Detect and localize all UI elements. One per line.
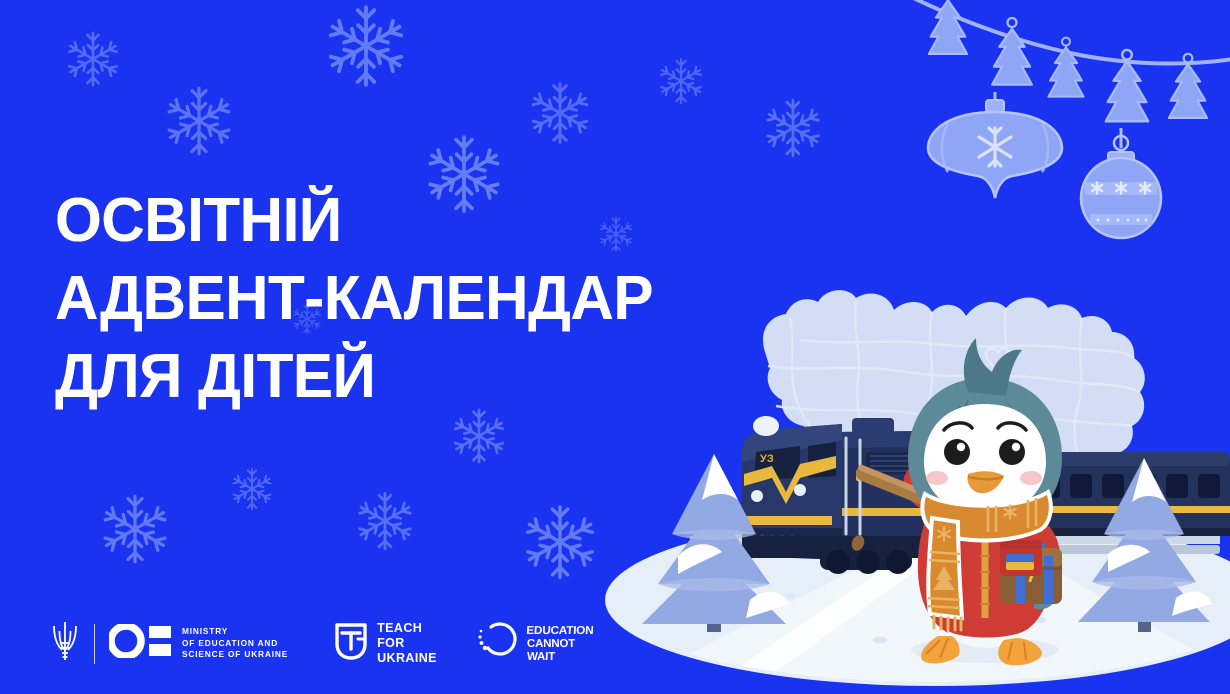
headline-line-3: ДЛЯ ДІТЕЙ xyxy=(55,338,653,416)
education-cannot-wait-logo[interactable]: EDUCATION CANNOT WAIT xyxy=(477,621,593,666)
tfu-line-2: FOR xyxy=(377,636,405,650)
ecw-line-1: EDUCATION xyxy=(526,625,594,637)
ministry-line-2: OF EDUCATION AND xyxy=(182,638,278,648)
ecw-line-3: WAIT xyxy=(527,651,593,663)
tfu-line-3: UKRAINE xyxy=(377,651,437,665)
ministry-logo-group[interactable]: MINISTRY OF EDUCATION AND SCIENCE OF UKR… xyxy=(50,619,288,668)
ukraine-trident-icon xyxy=(50,619,80,668)
tfu-monogram-icon xyxy=(334,622,368,665)
tfu-logo-text: TEACH FOR UKRAINE xyxy=(377,621,437,666)
ministry-line-3: SCIENCE OF UKRAINE xyxy=(182,649,288,659)
headline: ОСВІТНІЙ АДВЕНТ-КАЛЕНДАР ДЛЯ ДІТЕЙ xyxy=(55,182,671,416)
advent-calendar-banner: УЗ xyxy=(0,0,1230,694)
tfu-line-1: TEACH xyxy=(377,621,422,635)
ecw-circle-icon xyxy=(477,621,519,666)
ukraine-flag-patch xyxy=(1006,554,1034,570)
headline-line-2: АДВЕНТ-КАЛЕНДАР xyxy=(55,260,653,338)
svg-text:УЗ: УЗ xyxy=(760,453,774,465)
partner-logo-bar: MINISTRY OF EDUCATION AND SCIENCE OF UKR… xyxy=(50,619,593,668)
mon-mark-icon xyxy=(109,624,171,663)
teach-for-ukraine-logo[interactable]: TEACH FOR UKRAINE xyxy=(334,621,437,666)
ecw-logo-text: EDUCATION CANNOT WAIT xyxy=(527,625,593,663)
ecw-line-2: CANNOT xyxy=(527,638,593,650)
ministry-logo-text: MINISTRY OF EDUCATION AND SCIENCE OF UKR… xyxy=(182,626,288,661)
headline-line-1: ОСВІТНІЙ xyxy=(55,182,653,260)
logo-divider xyxy=(94,624,95,664)
ministry-line-1: MINISTRY xyxy=(182,626,228,636)
